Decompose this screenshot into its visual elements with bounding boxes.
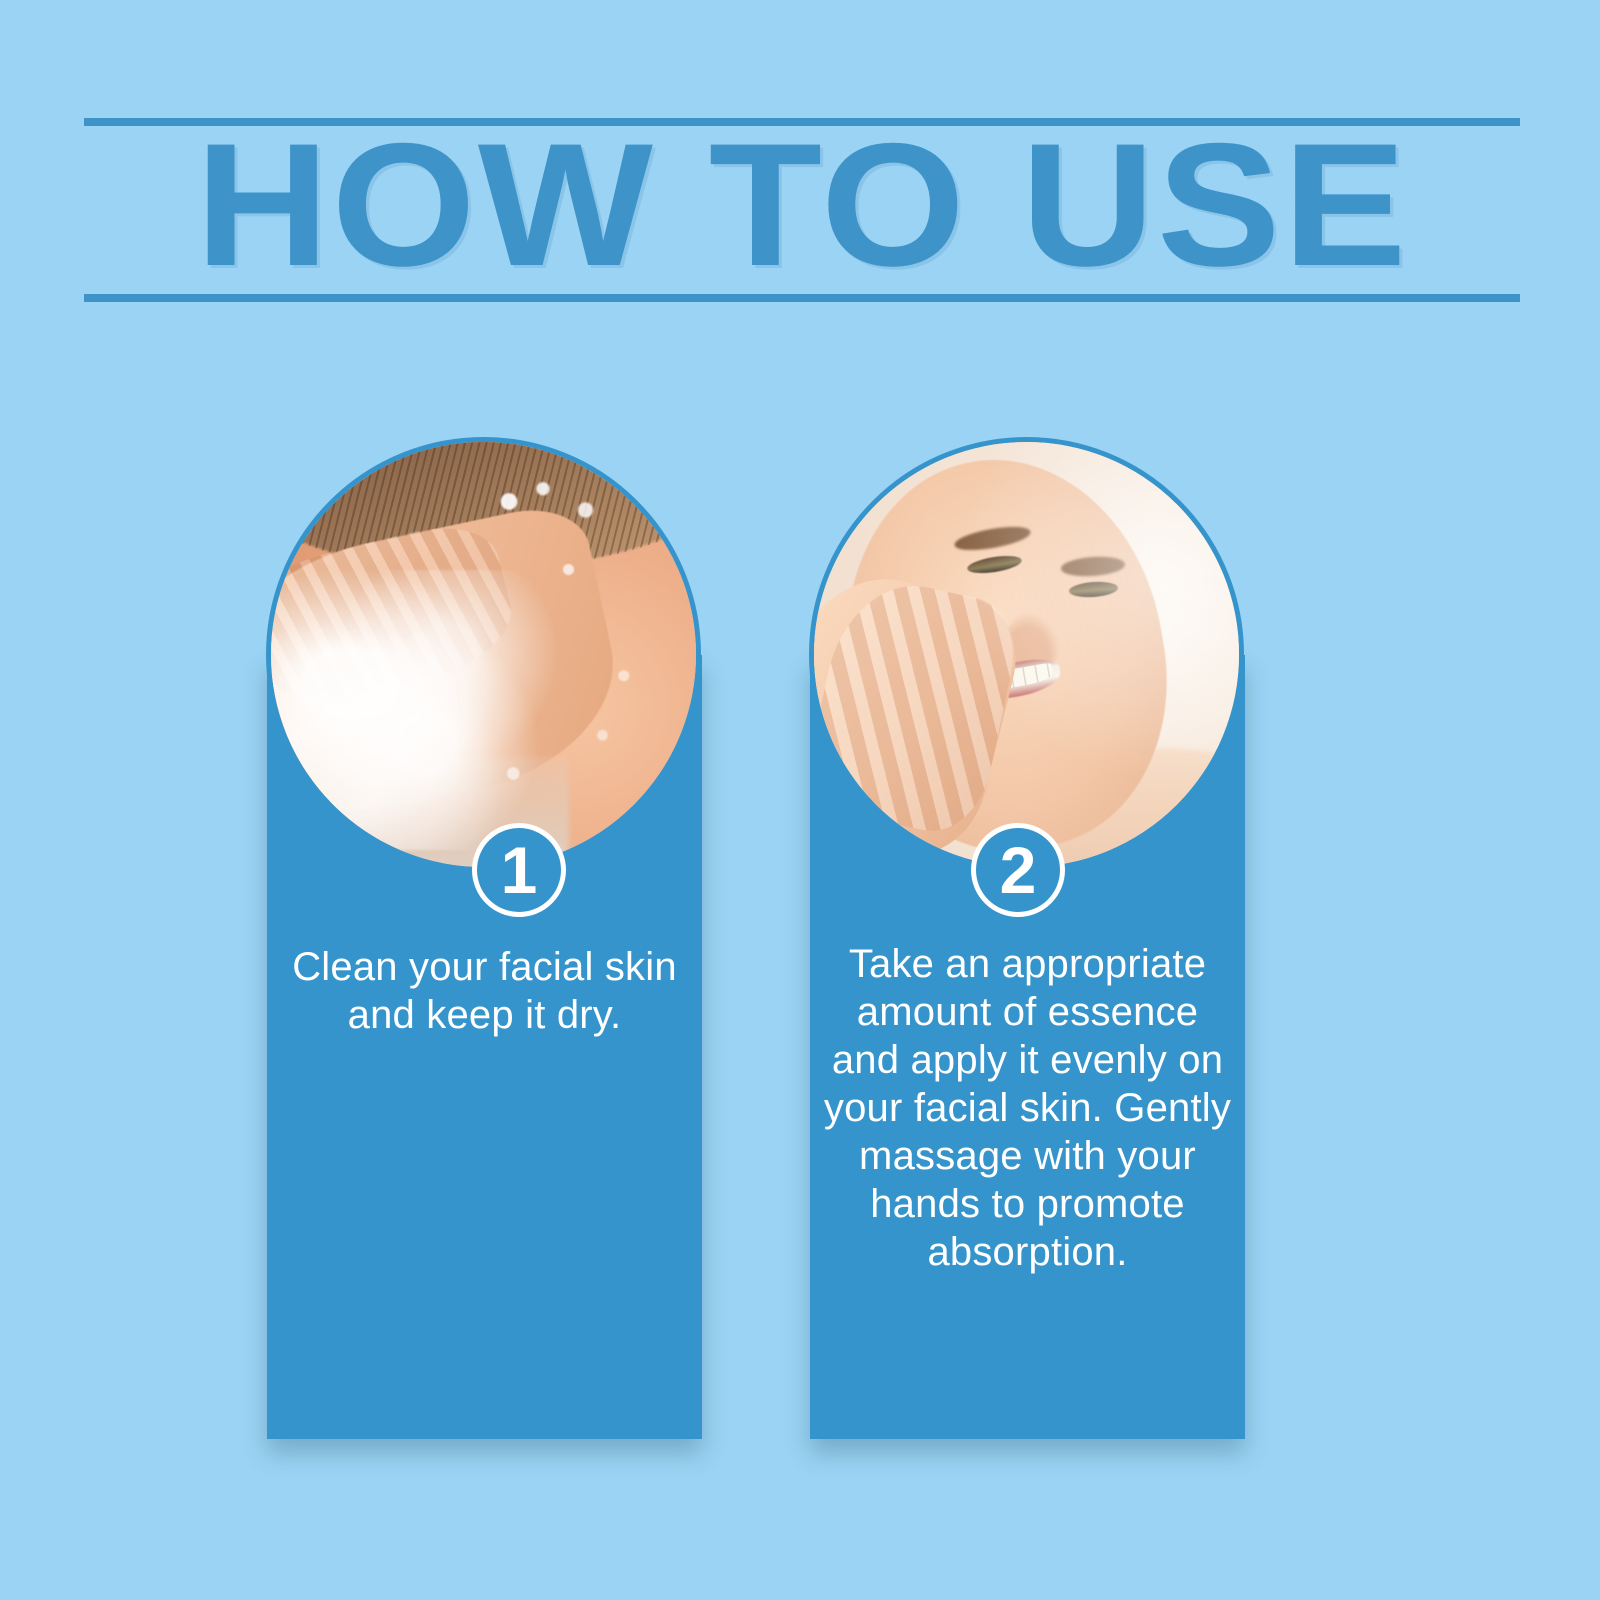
step-1-photo (266, 437, 701, 872)
step-2-photo (809, 437, 1244, 872)
step-number-badge-2: 2 (971, 823, 1065, 917)
step-caption-2: Take an appropriate amount of essence an… (822, 940, 1233, 1276)
step-card-1: 1 Clean your facial skin and keep it dry… (267, 655, 702, 1439)
steps-container: 1 Clean your facial skin and keep it dry… (0, 0, 1600, 1600)
step-card-2: 2 Take an appropriate amount of essence … (810, 655, 1245, 1439)
step-number-badge-1: 1 (472, 823, 566, 917)
step-caption-1: Clean your facial skin and keep it dry. (279, 943, 690, 1039)
how-to-use-infographic: HOW TO USE 1 Clean your facial skin and … (0, 0, 1600, 1600)
